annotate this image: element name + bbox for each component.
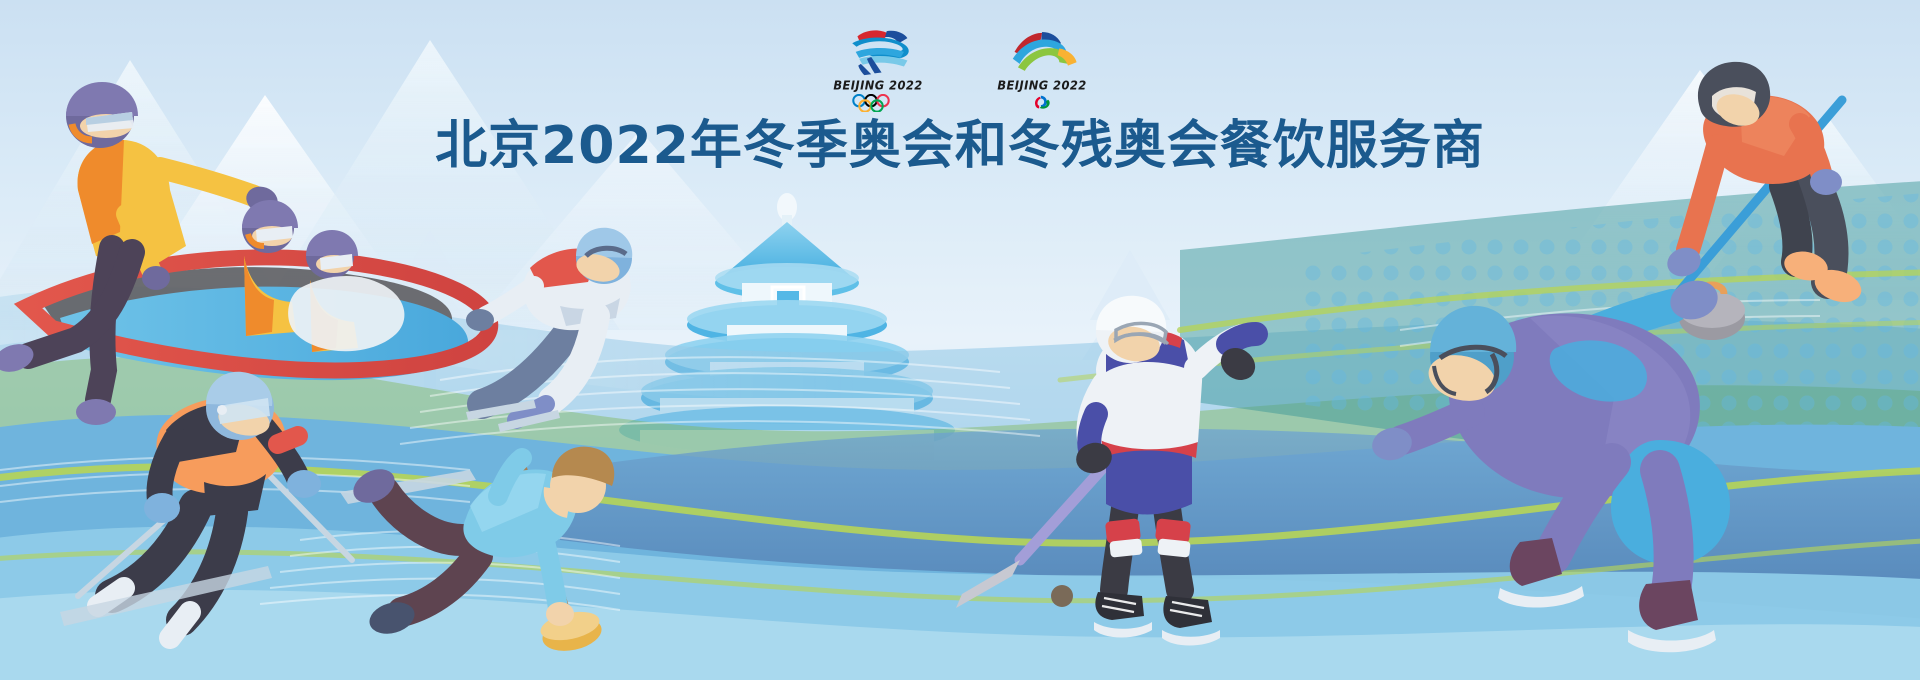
- wave-band-deep-blue: [560, 428, 1920, 620]
- wave-band-pale-blue: [0, 287, 1920, 680]
- paralympic-emblem: BEIJING 2022: [988, 26, 1096, 122]
- athlete-alpine-skier: [60, 372, 352, 638]
- beijing-2022-olympic-mark-icon: [835, 26, 921, 76]
- athlete-curling-sweeper-left: [348, 447, 615, 656]
- agitos-icon: [1014, 94, 1069, 112]
- olympic-emblem: BEIJING 2022: [824, 26, 932, 122]
- olympic-rings-icon: [850, 94, 905, 112]
- ice-groove-lines: [0, 300, 1820, 610]
- athlete-speed-skater-center: [466, 228, 632, 432]
- bobsleigh-rider-1: [242, 200, 298, 336]
- temple-of-heaven-landmark: [619, 193, 955, 460]
- athlete-speed-skater-right: [1369, 275, 1730, 652]
- pine-tree-decor: [382, 230, 1178, 405]
- wave-band-pale-foreground: [0, 590, 1920, 680]
- wave-band-green: [0, 357, 1920, 508]
- page-title: 北京2022年冬季奥会和冬残奥会餐饮服务商: [0, 118, 1920, 175]
- paralympic-wordmark: BEIJING 2022: [988, 77, 1096, 92]
- halftone-dot-panel: [1300, 192, 1920, 470]
- beijing-2022-paralympic-mark-icon: [999, 26, 1085, 76]
- wave-band-mid-blue: [0, 415, 1920, 680]
- wave-band-light-foreground: [0, 526, 1920, 680]
- olympic-wordmark: BEIJING 2022: [824, 77, 932, 92]
- emblem-lockup: BEIJING 2022 BEIJING 2022: [0, 26, 1920, 122]
- beijing-2022-banner: BEIJING 2022 BEIJING 2022: [0, 0, 1920, 680]
- green-ribbon-lines: [0, 272, 1920, 601]
- bobsleigh-rider-2: [306, 230, 358, 352]
- athlete-ice-hockey-player: [956, 296, 1261, 646]
- wave-band-teal-right: [1180, 180, 1920, 470]
